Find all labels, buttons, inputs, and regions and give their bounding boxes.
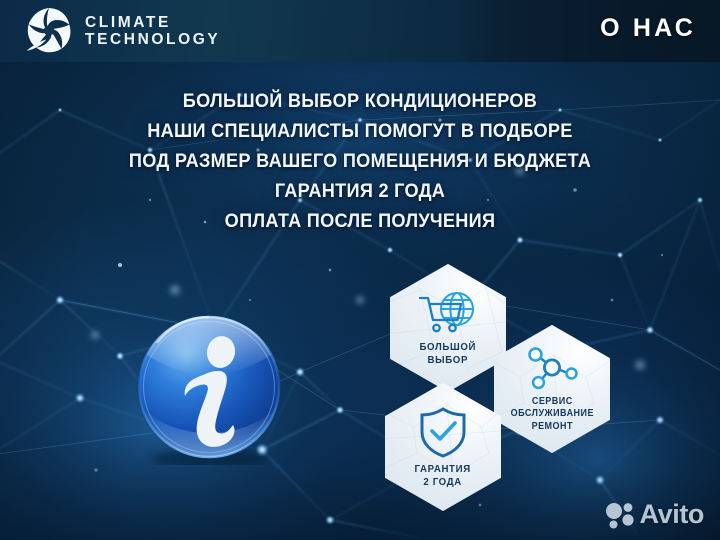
- headline-block: БОЛЬШОЙ ВЫБОР КОНДИЦИОНЕРОВ НАШИ СПЕЦИАЛ…: [0, 86, 720, 236]
- headline-line-1: БОЛЬШОЙ ВЫБОР КОНДИЦИОНЕРОВ: [44, 86, 676, 116]
- headline-line-2: НАШИ СПЕЦИАЛИСТЫ ПОМОГУТ В ПОДБОРЕ: [44, 116, 676, 146]
- network-nodes-icon: [523, 345, 581, 391]
- avito-label: Avito: [640, 499, 705, 530]
- shield-check-icon: [418, 406, 468, 458]
- badge-choice-caption: БОЛЬШОЙ ВЫБОР: [420, 341, 477, 366]
- headline-line-5: ОПЛАТА ПОСЛЕ ПОЛУЧЕНИЯ: [44, 206, 676, 236]
- about-tab-label: О НАС: [600, 14, 696, 43]
- avito-watermark: Avito: [605, 499, 705, 530]
- headline-line-4: ГАРАНТИЯ 2 ГОДА: [44, 176, 676, 206]
- brand-logo-text: CLIMATE TECHNOLOGY: [85, 15, 220, 48]
- shopping-cart-globe-icon: [417, 290, 479, 336]
- spiral-fan-logo-icon: [22, 5, 76, 57]
- badge-service[interactable]: СЕРВИС ОБСЛУЖИВАНИЕ РЕМОНТ: [494, 325, 610, 453]
- badge-warranty-caption: ГАРАНТИЯ 2 ГОДА: [415, 463, 471, 488]
- brand-line-1: CLIMATE: [85, 15, 220, 31]
- information-sphere-icon: [133, 313, 285, 465]
- badge-warranty[interactable]: ГАРАНТИЯ 2 ГОДА: [385, 383, 501, 511]
- promo-banner: О НАС CLIMATE TECHNOLOGY БОЛЬШОЙ В: [0, 0, 720, 540]
- brand-logo[interactable]: CLIMATE TECHNOLOGY: [22, 5, 220, 57]
- badge-service-caption: СЕРВИС ОБСЛУЖИВАНИЕ РЕМОНТ: [510, 396, 593, 434]
- background-network-graphic: [0, 0, 720, 540]
- brand-line-2: TECHNOLOGY: [85, 32, 220, 48]
- badge-choice[interactable]: БОЛЬШОЙ ВЫБОР: [390, 264, 506, 392]
- avito-dots-icon: [605, 501, 635, 529]
- headline-line-3: ПОД РАЗМЕР ВАШЕГО ПОМЕЩЕНИЯ И БЮДЖЕТА: [44, 146, 676, 176]
